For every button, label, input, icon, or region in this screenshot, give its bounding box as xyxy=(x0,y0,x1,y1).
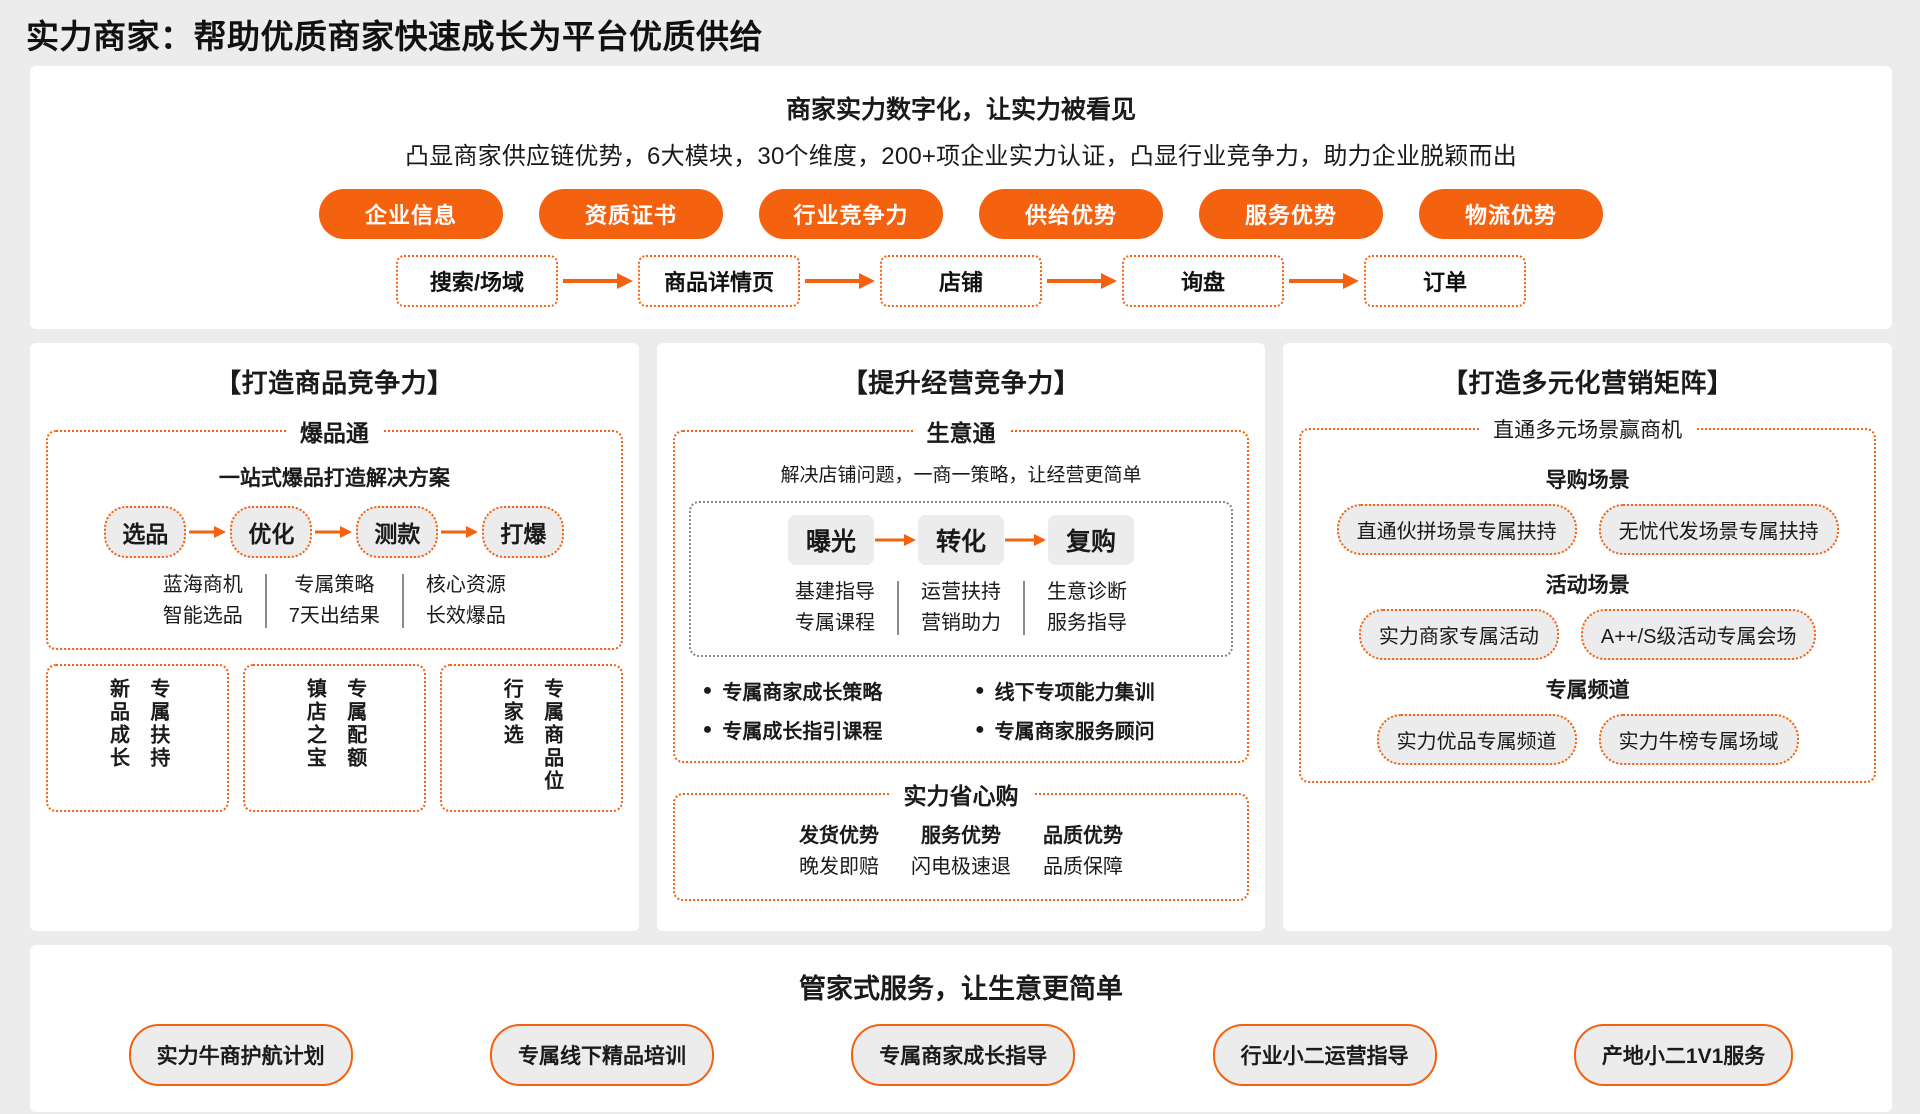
group-legend: 生意通 xyxy=(913,414,1010,448)
baopintong-chip-flow: 选品 优化 测款 打爆 xyxy=(62,506,607,558)
three-column-section: 【打造商品竞争力】 爆品通 一站式爆品打造解决方案 选品 优化 测款 xyxy=(30,343,1892,931)
bullet-dot-icon: ● xyxy=(975,683,985,699)
top-subline: 凸显商家供应链优势，6大模块，30个维度，200+项企业实力认证，凸显行业竞争力… xyxy=(30,136,1892,171)
list-item: ● 专属商家服务顾问 xyxy=(961,710,1233,749)
service-chip[interactable]: 产地小二1V1服务 xyxy=(1574,1024,1793,1086)
shenxingou-benefits: 发货优势 晚发即赔 服务优势 闪电极速退 品质优势 品质保障 xyxy=(689,821,1234,883)
funnel-chip[interactable]: 复购 xyxy=(1048,515,1134,565)
arrow-right-icon xyxy=(558,268,638,294)
group-shengyitong: 生意通 解决店铺问题，一商一策略，让经营更简单 曝光 转化 复购 xyxy=(673,414,1250,763)
capability-pill[interactable]: 供给优势 xyxy=(979,189,1163,239)
benefit-title: 发货优势 xyxy=(799,821,879,852)
group-legend: 直通多元场景赢商机 xyxy=(1479,414,1696,444)
scene-chip[interactable]: 实力优品专属频道 xyxy=(1377,714,1577,765)
list-item: ● 专属商家成长策略 xyxy=(689,671,961,710)
funnel-chip[interactable]: 曝光 xyxy=(788,515,874,565)
divider xyxy=(897,581,899,635)
group-baopintong: 爆品通 一站式爆品打造解决方案 选品 优化 测款 打爆 xyxy=(46,414,623,650)
scene-heading: 活动场景 xyxy=(1315,569,1860,599)
column-title: 【打造多元化营销矩阵】 xyxy=(1299,363,1876,400)
benefit-line: 闪电极速退 xyxy=(911,852,1011,883)
scene-heading: 导购场景 xyxy=(1315,464,1860,494)
arrow-right-icon xyxy=(438,522,482,542)
funnel-chip[interactable]: 转化 xyxy=(918,515,1004,565)
benefit-line: 长效爆品 xyxy=(426,601,506,632)
arrow-right-icon xyxy=(1042,268,1122,294)
funnel-benefits: 基建指导 专属课程 运营扶持 营销助力 生意诊断 服务指导 xyxy=(705,577,1218,639)
arrow-right-icon xyxy=(800,268,880,294)
capability-pill[interactable]: 行业竞争力 xyxy=(759,189,943,239)
list-item-label: 专属成长指引课程 xyxy=(722,715,882,744)
benefit-line: 蓝海商机 xyxy=(163,570,243,601)
capability-pill[interactable]: 服务优势 xyxy=(1199,189,1383,239)
capability-pill[interactable]: 资质证书 xyxy=(539,189,723,239)
vertical-label: 行家选 xyxy=(500,678,522,798)
journey-step[interactable]: 商品详情页 xyxy=(638,255,800,307)
benefit-title: 服务优势 xyxy=(911,821,1011,852)
journey-step[interactable]: 搜索/场域 xyxy=(396,255,558,307)
benefit-cell: 核心资源 长效爆品 xyxy=(410,570,522,632)
benefit-cell: 品质优势 品质保障 xyxy=(1027,821,1139,883)
service-chip-row: 实力牛商护航计划 专属线下精品培训 专属商家成长指导 行业小二运营指导 产地小二… xyxy=(30,1024,1892,1086)
stage-chip[interactable]: 优化 xyxy=(230,506,312,558)
list-item: ● 线下专项能力集训 xyxy=(961,671,1233,710)
vertical-program-box[interactable]: 行家选 专属商品位 xyxy=(440,664,623,812)
bullet-dot-icon: ● xyxy=(975,722,985,738)
shengyitong-bullet-list: ● 专属商家成长策略 ● 线下专项能力集训 ● 专属成长指引课程 ● 专属商家服… xyxy=(689,671,1234,749)
group-legend: 实力省心购 xyxy=(890,777,1033,811)
bottom-headline: 管家式服务，让生意更简单 xyxy=(30,967,1892,1006)
column-title: 【打造商品竞争力】 xyxy=(46,363,623,400)
benefit-cell: 生意诊断 服务指导 xyxy=(1031,577,1143,639)
bottom-section: 管家式服务，让生意更简单 实力牛商护航计划 专属线下精品培训 专属商家成长指导 … xyxy=(30,945,1892,1112)
vertical-label: 专属扶持 xyxy=(146,678,168,798)
column-title: 【提升经营竞争力】 xyxy=(673,363,1250,400)
list-item: ● 专属成长指引课程 xyxy=(689,710,961,749)
benefit-line: 专属课程 xyxy=(795,608,875,639)
vertical-label: 镇店之宝 xyxy=(303,678,325,798)
benefit-cell: 基建指导 专属课程 xyxy=(779,577,891,639)
vertical-program-box[interactable]: 新品成长 专属扶持 xyxy=(46,664,229,812)
benefit-cell: 运营扶持 营销助力 xyxy=(905,577,1017,639)
group-legend: 爆品通 xyxy=(286,414,383,448)
benefit-line: 专属策略 xyxy=(289,570,380,601)
list-item-label: 线下专项能力集训 xyxy=(995,676,1155,705)
benefit-cell: 服务优势 闪电极速退 xyxy=(895,821,1027,883)
vertical-label: 新品成长 xyxy=(106,678,128,798)
list-item-label: 专属商家成长策略 xyxy=(722,676,882,705)
vertical-program-row: 新品成长 专属扶持 镇店之宝 专属配额 行家选 专属商品位 xyxy=(46,664,623,812)
benefit-cell: 专属策略 7天出结果 xyxy=(273,570,396,632)
capability-pill-row: 企业信息 资质证书 行业竞争力 供给优势 服务优势 物流优势 xyxy=(30,189,1892,239)
vertical-label: 专属商品位 xyxy=(540,678,562,798)
scene-row: 实力商家专属活动 A++/S级活动专属会场 xyxy=(1315,609,1860,660)
page-title: 实力商家：帮助优质商家快速成长为平台优质供给 xyxy=(0,0,1920,66)
divider xyxy=(265,574,267,628)
benefit-line: 运营扶持 xyxy=(921,577,1001,608)
column-operation-competitiveness: 【提升经营竞争力】 生意通 解决店铺问题，一商一策略，让经营更简单 曝光 转化 xyxy=(657,343,1266,931)
benefit-line: 服务指导 xyxy=(1047,608,1127,639)
service-chip[interactable]: 行业小二运营指导 xyxy=(1213,1024,1437,1086)
scene-chip[interactable]: 直通伙拼场景专属扶持 xyxy=(1337,504,1577,555)
arrow-right-icon xyxy=(312,522,356,542)
vertical-label: 专属配额 xyxy=(343,678,365,798)
scene-row: 直通伙拼场景专属扶持 无忧代发场景专属扶持 xyxy=(1315,504,1860,555)
column-marketing-matrix: 【打造多元化营销矩阵】 直通多元场景赢商机 导购场景 直通伙拼场景专属扶持 无忧… xyxy=(1283,343,1892,931)
arrow-right-icon xyxy=(1004,530,1048,550)
benefit-line: 营销助力 xyxy=(921,608,1001,639)
divider xyxy=(402,574,404,628)
vertical-program-box[interactable]: 镇店之宝 专属配额 xyxy=(243,664,426,812)
group-funnel: 曝光 转化 复购 基建指导 专属课程 xyxy=(689,501,1234,657)
stage-chip[interactable]: 测款 xyxy=(356,506,438,558)
divider xyxy=(1023,581,1025,635)
benefit-line: 7天出结果 xyxy=(289,601,380,632)
list-item-label: 专属商家服务顾问 xyxy=(995,715,1155,744)
stage-chip[interactable]: 选品 xyxy=(104,506,186,558)
capability-pill[interactable]: 物流优势 xyxy=(1419,189,1603,239)
group-multi-scene: 直通多元场景赢商机 导购场景 直通伙拼场景专属扶持 无忧代发场景专属扶持 活动场… xyxy=(1299,414,1876,783)
benefit-line: 智能选品 xyxy=(163,601,243,632)
bullet-dot-icon: ● xyxy=(703,683,713,699)
benefit-cell: 发货优势 晚发即赔 xyxy=(783,821,895,883)
scene-chip[interactable]: 实力商家专属活动 xyxy=(1359,609,1559,660)
funnel-chip-flow: 曝光 转化 复购 xyxy=(705,515,1218,565)
group-shenxingou: 实力省心购 发货优势 晚发即赔 服务优势 闪电极速退 品质优势 品质保障 xyxy=(673,777,1250,901)
service-chip[interactable]: 专属线下精品培训 xyxy=(490,1024,714,1086)
scene-chip[interactable]: 实力牛榜专属场域 xyxy=(1599,714,1799,765)
journey-step[interactable]: 店铺 xyxy=(880,255,1042,307)
service-chip[interactable]: 专属商家成长指导 xyxy=(851,1024,1075,1086)
infographic-page: 实力商家：帮助优质商家快速成长为平台优质供给 商家实力数字化，让实力被看见 凸显… xyxy=(0,0,1920,1114)
top-section: 商家实力数字化，让实力被看见 凸显商家供应链优势，6大模块，30个维度，200+… xyxy=(30,66,1892,329)
arrow-right-icon xyxy=(874,530,918,550)
benefit-title: 品质优势 xyxy=(1043,821,1123,852)
scene-heading: 专属频道 xyxy=(1315,674,1860,704)
benefit-line: 基建指导 xyxy=(795,577,875,608)
scene-chip[interactable]: 无忧代发场景专属扶持 xyxy=(1599,504,1839,555)
service-chip[interactable]: 实力牛商护航计划 xyxy=(129,1024,353,1086)
bullet-dot-icon: ● xyxy=(703,722,713,738)
arrow-right-icon xyxy=(186,522,230,542)
group-subtitle: 解决店铺问题，一商一策略，让经营更简单 xyxy=(689,460,1234,487)
arrow-right-icon xyxy=(1284,268,1364,294)
benefit-line: 生意诊断 xyxy=(1047,577,1127,608)
benefit-line: 品质保障 xyxy=(1043,852,1123,883)
scene-row: 实力优品专属频道 实力牛榜专属场域 xyxy=(1315,714,1860,765)
benefit-cell: 蓝海商机 智能选品 xyxy=(147,570,259,632)
group-subtitle: 一站式爆品打造解决方案 xyxy=(62,462,607,492)
column-product-competitiveness: 【打造商品竞争力】 爆品通 一站式爆品打造解决方案 选品 优化 测款 xyxy=(30,343,639,931)
benefit-line: 晚发即赔 xyxy=(799,852,879,883)
capability-pill[interactable]: 企业信息 xyxy=(319,189,503,239)
scene-chip[interactable]: A++/S级活动专属会场 xyxy=(1581,609,1817,660)
top-headline: 商家实力数字化，让实力被看见 xyxy=(30,90,1892,126)
stage-chip[interactable]: 打爆 xyxy=(482,506,564,558)
journey-step[interactable]: 订单 xyxy=(1364,255,1526,307)
baopintong-benefits: 蓝海商机 智能选品 专属策略 7天出结果 核心资源 长效爆品 xyxy=(62,570,607,632)
journey-flow-row: 搜索/场域 商品详情页 店铺 询盘 订单 xyxy=(30,255,1892,307)
benefit-line: 核心资源 xyxy=(426,570,506,601)
journey-step[interactable]: 询盘 xyxy=(1122,255,1284,307)
